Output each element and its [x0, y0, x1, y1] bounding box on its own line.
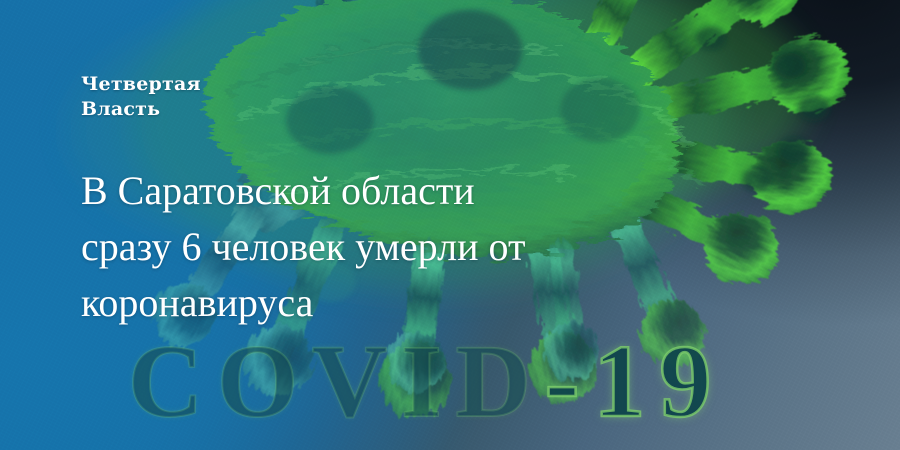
covid-watermark-right: -19: [545, 324, 726, 439]
covid-watermark: COVID-19: [128, 322, 828, 442]
news-card: COVID-19 Четвертая Власть В Саратовской …: [0, 0, 900, 450]
article-headline[interactable]: В Саратовской области сразу 6 человек ум…: [81, 163, 721, 331]
site-logo-line-1: Четвертая: [81, 72, 201, 97]
site-logo[interactable]: Четвертая Власть: [81, 72, 201, 122]
headline-line-2: сразу 6 человек умерли от: [81, 219, 721, 275]
headline-line-3: коронавируса: [81, 275, 721, 331]
covid-watermark-left: COVID: [128, 324, 545, 439]
site-logo-line-2: Власть: [81, 97, 201, 122]
headline-line-1: В Саратовской области: [81, 163, 721, 219]
